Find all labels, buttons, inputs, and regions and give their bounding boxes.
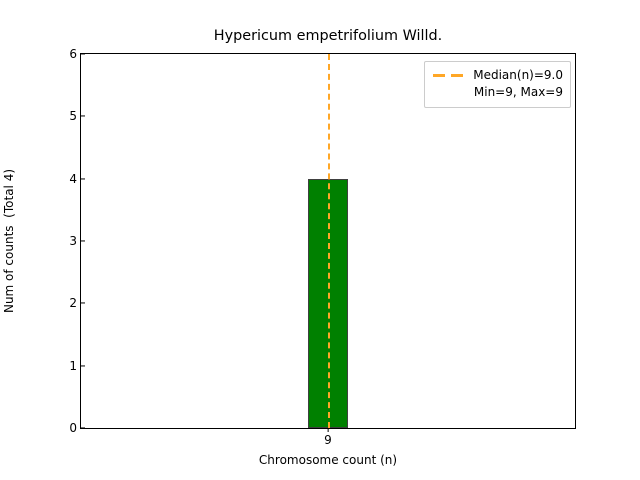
y-tick-4: 4 [69, 173, 81, 185]
x-tick-mark [327, 428, 328, 432]
y-tick-label: 6 [69, 48, 81, 60]
y-tick-mark [81, 365, 85, 366]
y-tick-5: 5 [69, 110, 81, 122]
x-axis-label: Chromosome count (n) [80, 453, 576, 467]
x-tick-label: 9 [324, 434, 332, 447]
plot-area: 6 5 4 3 2 1 0 9 [80, 53, 576, 429]
legend: Median(n)=9.0 Min=9, Max=9 [424, 61, 571, 108]
legend-line-minmax: Min=9, Max=9 [473, 84, 563, 101]
y-tick-mark [81, 303, 85, 304]
y-tick-label: 3 [69, 235, 81, 247]
y-tick-mark [81, 240, 85, 241]
legend-entry-text: Median(n)=9.0 Min=9, Max=9 [473, 67, 563, 101]
y-tick-6: 6 [69, 48, 81, 60]
legend-dashed-line-icon [432, 67, 466, 84]
x-tick-9: 9 [324, 428, 332, 447]
y-tick-0: 0 [69, 422, 81, 434]
y-tick-label: 4 [69, 173, 81, 185]
figure-canvas: Hypericum empetrifolium Willd. Num of co… [0, 0, 640, 480]
y-tick-mark [81, 53, 85, 54]
y-tick-label: 2 [69, 297, 81, 309]
y-tick-2: 2 [69, 297, 81, 309]
y-tick-mark [81, 427, 85, 428]
y-tick-label: 1 [69, 360, 81, 372]
y-tick-label: 0 [69, 422, 81, 434]
page-title: Hypericum empetrifolium Willd. [80, 28, 576, 45]
y-tick-1: 1 [69, 360, 81, 372]
y-tick-mark [81, 116, 85, 117]
y-axis-label: Num of counts (Total 4) [0, 53, 18, 429]
legend-line-median: Median(n)=9.0 [473, 67, 563, 84]
median-line [328, 54, 330, 428]
y-tick-3: 3 [69, 235, 81, 247]
y-tick-mark [81, 178, 85, 179]
y-tick-label: 5 [69, 110, 81, 122]
